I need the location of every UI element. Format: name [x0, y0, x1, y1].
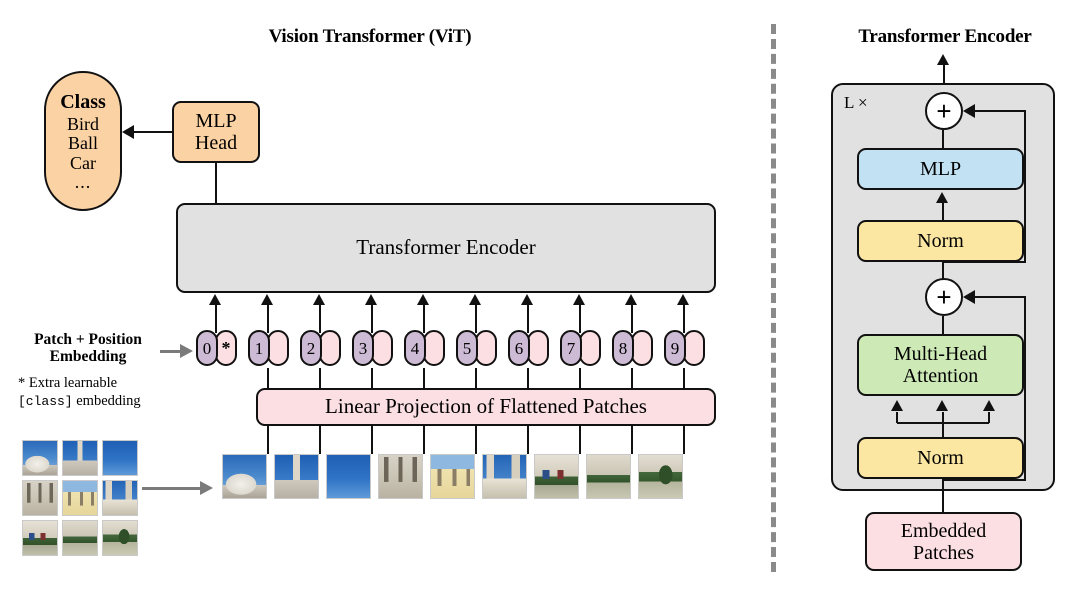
patch-position-embedding-label: Patch + Position Embedding [8, 331, 168, 366]
flattened-patch-9-tree [638, 454, 683, 499]
embedded-to-norm-line [942, 479, 944, 512]
token-7: 7 [560, 330, 601, 366]
linear-projection-label: Linear Projection of Flattened Patches [325, 395, 647, 419]
residual-bypass-top-arrowhead [963, 104, 975, 118]
residual-add-node-top: + [925, 92, 963, 130]
projection-to-token-lines [196, 368, 716, 390]
residual-bypass-bottom-tap [943, 479, 1026, 481]
flattened-patch-5-yellow [430, 454, 475, 499]
class-ellipsis: ... [75, 175, 92, 189]
qkv-arrowhead-v [983, 400, 995, 411]
mlp-head-line1: MLP [195, 110, 236, 132]
encoder-attention-block: Multi-Head Attention [857, 334, 1024, 396]
patch-to-projection-lines [196, 426, 716, 454]
encoder-norm-top-block: Norm [857, 220, 1024, 262]
projection-to-token-9-line [683, 368, 685, 390]
flattened-patch-8-path [586, 454, 631, 499]
embedded-patches-line1: Embedded [901, 520, 987, 542]
flattened-patch-4-facade [378, 454, 423, 499]
norm-top-to-mlp-arrowhead [936, 192, 948, 203]
residual-add-node-bottom: + [925, 278, 963, 316]
linear-projection-box: Linear Projection of Flattened Patches [256, 388, 716, 426]
position-embedding-1: 1 [248, 330, 270, 366]
flattened-patch-6-church [482, 454, 527, 499]
vit-architecture-diagram: Vision Transformer (ViT) Class Bird Ball… [0, 0, 1080, 593]
token-5-to-encoder-line [475, 304, 477, 333]
token-6-to-encoder-arrowhead [521, 294, 533, 305]
projection-to-token-5-line [475, 368, 477, 390]
mlp-head-box: MLP Head [172, 101, 260, 163]
token-1-to-encoder-arrowhead [261, 294, 273, 305]
token-6: 6 [508, 330, 549, 366]
patch-6-to-projection-line [527, 426, 529, 454]
source-patch-1-dome [22, 440, 58, 476]
position-embedding-9: 9 [664, 330, 686, 366]
token-9-to-encoder-arrowhead [677, 294, 689, 305]
source-patch-6-church [102, 480, 138, 516]
panel-divider [771, 24, 776, 572]
projection-to-token-6-line [527, 368, 529, 390]
source-image-patch-grid [22, 440, 138, 556]
transformer-encoder-box: Transformer Encoder [176, 203, 716, 293]
patch-1-to-projection-line [267, 426, 269, 454]
source-patch-9-tree [102, 520, 138, 556]
position-embedding-3: 3 [352, 330, 374, 366]
token-9-to-encoder-line [683, 304, 685, 333]
class-token-literal: [class] [18, 394, 73, 409]
flatten-arrow-line [142, 487, 200, 490]
qkv-arrowhead-q [891, 400, 903, 411]
token-4-to-encoder-line [423, 304, 425, 333]
encoder-to-mlp-head-line [215, 163, 217, 203]
mlp-head-line2: Head [195, 132, 237, 154]
qkv-branch-q [896, 412, 898, 423]
class-item-car: Car [70, 154, 96, 173]
position-embedding-0: 0 [196, 330, 218, 366]
footnote-line2-rest: embedding [73, 393, 141, 409]
footnote-line1: * Extra learnable [18, 374, 188, 392]
token-to-encoder-arrows [196, 293, 716, 333]
token-8: 8 [612, 330, 653, 366]
embedding-label-line2: Embedding [8, 348, 168, 365]
patch-8-to-projection-line [631, 426, 633, 454]
token-5: 5 [456, 330, 497, 366]
patch-position-token-row: 0*123456789 [196, 330, 716, 372]
encoder-output-arrowhead [937, 54, 949, 65]
mlp-to-class-arrowhead [122, 125, 134, 139]
token-3-to-encoder-line [371, 304, 373, 333]
projection-to-token-4-line [423, 368, 425, 390]
flatten-arrowhead [200, 481, 213, 495]
qkv-arrowhead-k [936, 400, 948, 411]
token-1-to-encoder-line [267, 304, 269, 333]
residual-bypass-bottom-vertical [1024, 297, 1026, 481]
flattened-patch-3-sky [326, 454, 371, 499]
token-7-to-encoder-arrowhead [573, 294, 585, 305]
position-embedding-6: 6 [508, 330, 530, 366]
patch-embedding-5 [475, 330, 497, 366]
patch-4-to-projection-line [423, 426, 425, 454]
class-output-box: Class Bird Ball Car ... [44, 71, 122, 211]
encoder-norm-bottom-label: Norm [917, 447, 964, 469]
token-0-to-encoder-arrowhead [209, 294, 221, 305]
flattened-patch-7-street [534, 454, 579, 499]
token-0: 0* [196, 330, 237, 366]
projection-to-token-3-line [371, 368, 373, 390]
patch-2-to-projection-line [319, 426, 321, 454]
embedded-patches-block: Embedded Patches [865, 512, 1022, 571]
token-4-to-encoder-arrowhead [417, 294, 429, 305]
token-9: 9 [664, 330, 705, 366]
position-embedding-2: 2 [300, 330, 322, 366]
transformer-encoder-label: Transformer Encoder [356, 236, 535, 260]
position-embedding-8: 8 [612, 330, 634, 366]
token-7-to-encoder-line [579, 304, 581, 333]
mlp-to-class-line [134, 131, 172, 133]
left-panel-title: Vision Transformer (ViT) [190, 26, 550, 48]
encoder-mlp-label: MLP [920, 158, 961, 180]
embedding-label-arrow-line [160, 350, 180, 353]
footnote-line2: [class] embedding [18, 392, 188, 410]
position-embedding-4: 4 [404, 330, 426, 366]
token-3-to-encoder-arrowhead [365, 294, 377, 305]
projection-to-token-2-line [319, 368, 321, 390]
source-patch-2-skytower [62, 440, 98, 476]
position-embedding-7: 7 [560, 330, 582, 366]
encoder-norm-bottom-block: Norm [857, 437, 1024, 479]
flattened-patch-2-skytower [274, 454, 319, 499]
class-token-star: * [215, 330, 237, 366]
encoder-attention-line1: Multi-Head [894, 343, 987, 365]
source-patch-5-yellow [62, 480, 98, 516]
class-item-ball: Ball [68, 134, 98, 153]
projection-to-token-1-line [267, 368, 269, 390]
token-2-to-encoder-line [319, 304, 321, 333]
token-8-to-encoder-arrowhead [625, 294, 637, 305]
patch-embedding-9 [683, 330, 705, 366]
source-patch-8-path [62, 520, 98, 556]
source-patch-3-sky [102, 440, 138, 476]
residual-bypass-bottom-horizontal [975, 296, 1026, 298]
patch-embedding-2 [319, 330, 341, 366]
flattened-patch-strip [222, 454, 722, 512]
projection-to-token-8-line [631, 368, 633, 390]
token-0-to-encoder-line [215, 304, 217, 333]
embedding-label-line1: Patch + Position [8, 331, 168, 348]
patch-embedding-4 [423, 330, 445, 366]
token-5-to-encoder-arrowhead [469, 294, 481, 305]
norm-top-to-mlp-line [942, 201, 944, 222]
patch-9-to-projection-line [683, 426, 685, 454]
token-4: 4 [404, 330, 445, 366]
patch-embedding-7 [579, 330, 601, 366]
residual-bypass-top-horizontal [975, 110, 1026, 112]
token-8-to-encoder-line [631, 304, 633, 333]
class-heading: Class [60, 92, 106, 114]
patch-embedding-3 [371, 330, 393, 366]
position-embedding-5: 5 [456, 330, 478, 366]
patch-embedding-8 [631, 330, 653, 366]
token-3: 3 [352, 330, 393, 366]
patch-3-to-projection-line [371, 426, 373, 454]
embedded-patches-line2: Patches [913, 542, 974, 564]
projection-to-token-7-line [579, 368, 581, 390]
patch-embedding-6 [527, 330, 549, 366]
patch-embedding-1 [267, 330, 289, 366]
plus-symbol-bottom: + [936, 284, 951, 310]
qkv-branch-v [988, 412, 990, 423]
class-item-bird: Bird [67, 115, 99, 134]
source-patch-7-street [22, 520, 58, 556]
encoder-norm-top-label: Norm [917, 230, 964, 252]
embedding-label-arrowhead [180, 344, 193, 358]
repeat-count-label: L × [844, 93, 868, 113]
encoder-mlp-block: MLP [857, 148, 1024, 190]
token-2-to-encoder-arrowhead [313, 294, 325, 305]
right-panel-title: Transformer Encoder [820, 26, 1070, 48]
token-6-to-encoder-line [527, 304, 529, 333]
extra-learnable-footnote: * Extra learnable [class] embedding [18, 374, 188, 410]
source-patch-4-facade [22, 480, 58, 516]
residual-bypass-top-vertical [1024, 111, 1026, 263]
patch-5-to-projection-line [475, 426, 477, 454]
plus-symbol-top: + [936, 98, 951, 124]
flattened-patch-1-dome [222, 454, 267, 499]
patch-7-to-projection-line [579, 426, 581, 454]
token-1: 1 [248, 330, 289, 366]
token-2: 2 [300, 330, 341, 366]
residual-bypass-bottom-arrowhead [963, 290, 975, 304]
encoder-attention-line2: Attention [903, 365, 979, 387]
